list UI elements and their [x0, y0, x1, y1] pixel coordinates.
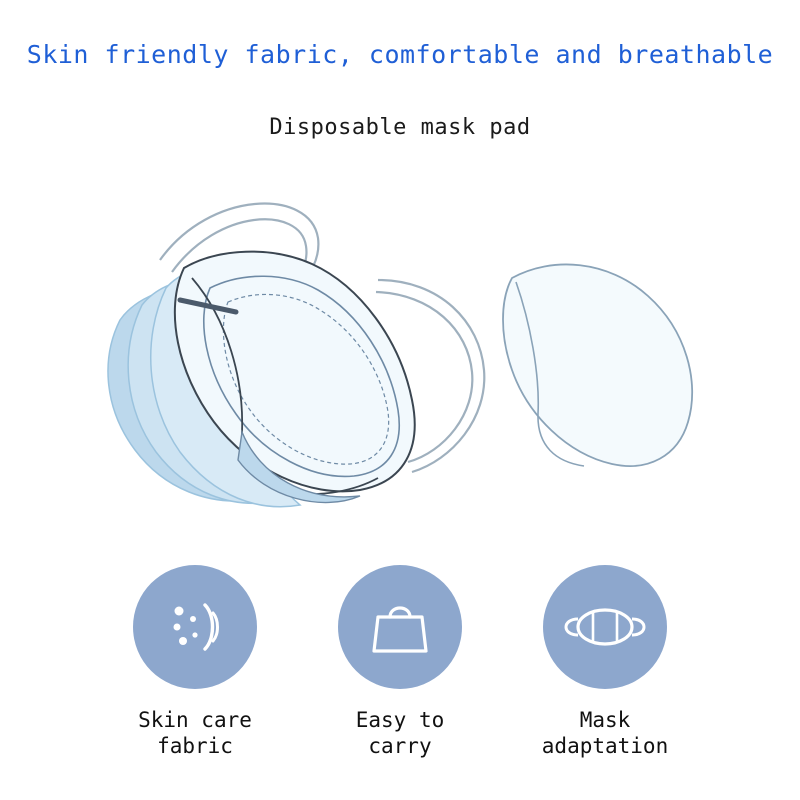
feature-icon-circle [133, 565, 257, 689]
mask-icon [560, 587, 650, 667]
feature-icon-circle [543, 565, 667, 689]
page-title: Disposable mask pad [0, 115, 800, 140]
mask-illustration-svg [60, 160, 740, 530]
feature-icon-circle [338, 565, 462, 689]
feature-item-mask-adaptation: Mask adaptation [503, 565, 708, 760]
feature-label: Mask adaptation [542, 707, 668, 760]
skin-care-icon [155, 587, 235, 667]
feature-label: Skin care fabric [138, 707, 252, 760]
feature-item-easy-to-carry: Easy to carry [298, 565, 503, 760]
hero-illustration [60, 160, 740, 530]
handbag-icon [360, 587, 440, 667]
feature-list: Skin care fabric Easy to carry [0, 565, 800, 780]
headline-text: Skin friendly fabric, comfortable and br… [0, 40, 800, 69]
feature-label: Easy to carry [356, 707, 445, 760]
product-infographic: Skin friendly fabric, comfortable and br… [0, 0, 800, 800]
feature-item-skin-care: Skin care fabric [93, 565, 298, 760]
single-mask [503, 264, 692, 466]
